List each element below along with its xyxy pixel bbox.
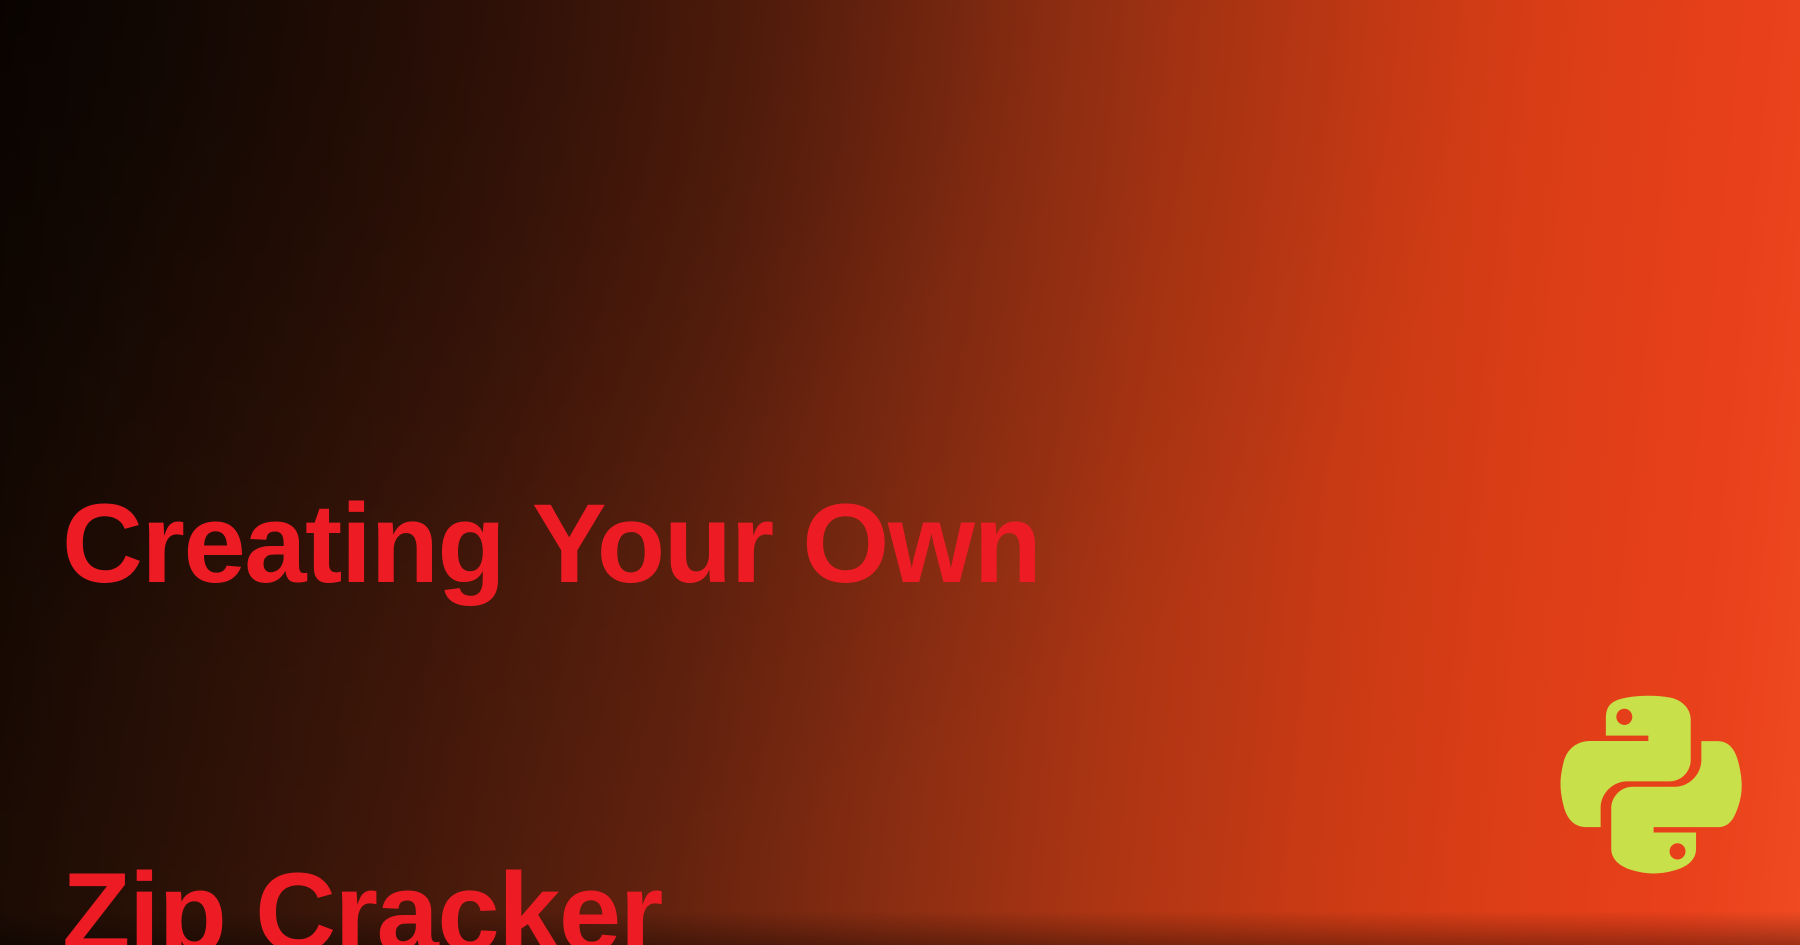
- page-title-line-1: Creating Your Own: [62, 482, 1040, 605]
- cover-text-block: Creating Your Own Zip Cracker written by…: [62, 236, 1040, 945]
- article-cover-banner: Creating Your Own Zip Cracker written by…: [0, 0, 1800, 945]
- page-title: Creating Your Own Zip Cracker: [62, 236, 1040, 945]
- python-logo: [1553, 688, 1743, 878]
- page-title-line-2: Zip Cracker: [62, 851, 1040, 945]
